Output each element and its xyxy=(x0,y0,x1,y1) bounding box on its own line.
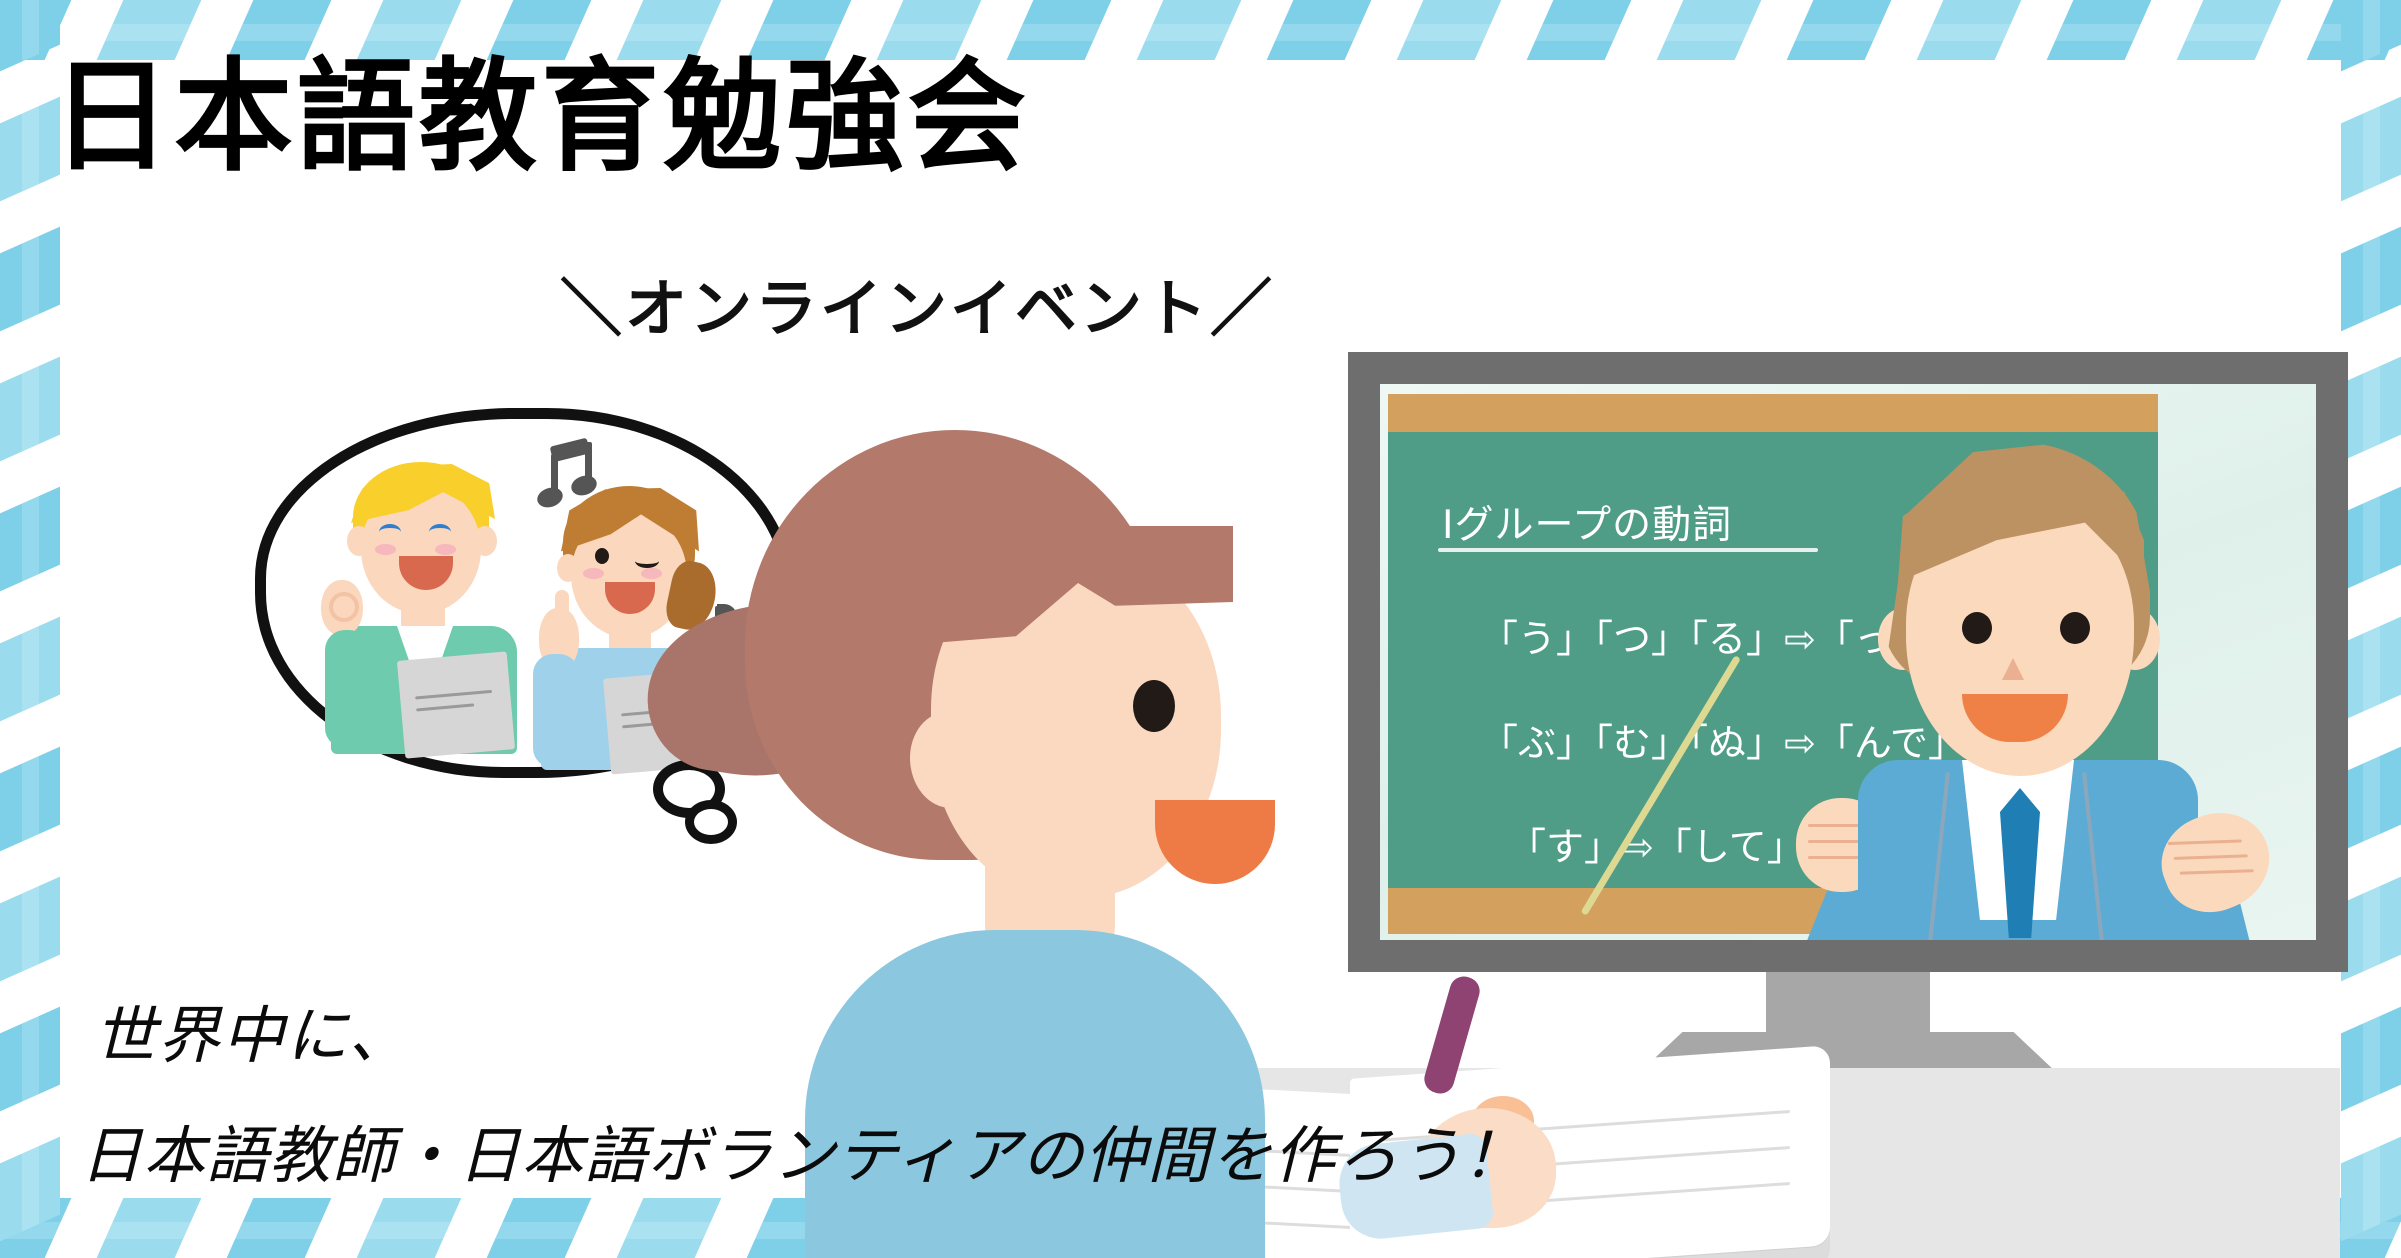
cheek-right xyxy=(435,544,456,555)
cheek-left xyxy=(375,544,396,555)
ear-left xyxy=(347,526,371,556)
student-mouth xyxy=(1155,800,1275,884)
blackboard-rule-3: 「す」⇨「して」 xyxy=(1508,816,1805,871)
teacher-figure xyxy=(1810,442,2240,940)
ear-right xyxy=(473,526,497,556)
bubble-person-left xyxy=(313,460,543,750)
ok-hand-ring xyxy=(329,592,359,622)
page-title: 日本語教育勉強会 xyxy=(52,52,1030,184)
eye-right-icon xyxy=(429,524,451,540)
ear-left xyxy=(557,554,579,582)
cheek-left xyxy=(583,568,604,579)
tagline-line-2: 日本語教師・日本語ボランティアの仲間を作ろう！ xyxy=(80,1105,1525,1195)
index-finger xyxy=(555,590,569,636)
eye-left-icon xyxy=(595,548,609,564)
banner-canvas: 日本語教育勉強会 ＼オンラインイベント／ xyxy=(0,0,2401,1258)
music-note-beamed-icon xyxy=(543,436,607,508)
tagline: 世界中に、 日本語教師・日本語ボランティアの仲間を作ろう！ xyxy=(80,985,1525,1195)
teacher-eye-left xyxy=(1962,612,1992,644)
border-stripes-left xyxy=(0,0,60,1258)
arm-left xyxy=(533,654,579,768)
paper-sheet xyxy=(397,651,515,758)
border-stripes-right xyxy=(2341,0,2401,1258)
arm-left xyxy=(325,630,369,748)
blackboard-underline xyxy=(1438,548,1818,552)
teacher-eye-right xyxy=(2060,612,2090,644)
thought-bubble-dot-small xyxy=(685,800,737,844)
computer-monitor: Ⅰグループの動詞 「う」「つ」「る」⇨「って」 「ぶ」「む」「ぬ」⇨「んで」 「… xyxy=(1348,352,2348,1052)
blackboard-heading: Ⅰグループの動詞 xyxy=(1442,494,1732,550)
monitor-screen: Ⅰグループの動詞 「う」「つ」「る」⇨「って」 「ぶ」「む」「ぬ」⇨「んで」 「… xyxy=(1380,384,2316,940)
page-subtitle: ＼オンラインイベント／ xyxy=(560,258,1275,348)
eye-right-wink-icon xyxy=(635,554,659,568)
cheek-right xyxy=(641,568,662,579)
eye-left-icon xyxy=(379,524,401,540)
tagline-line-1: 世界中に、 xyxy=(94,985,1525,1075)
student-eye xyxy=(1133,680,1175,732)
